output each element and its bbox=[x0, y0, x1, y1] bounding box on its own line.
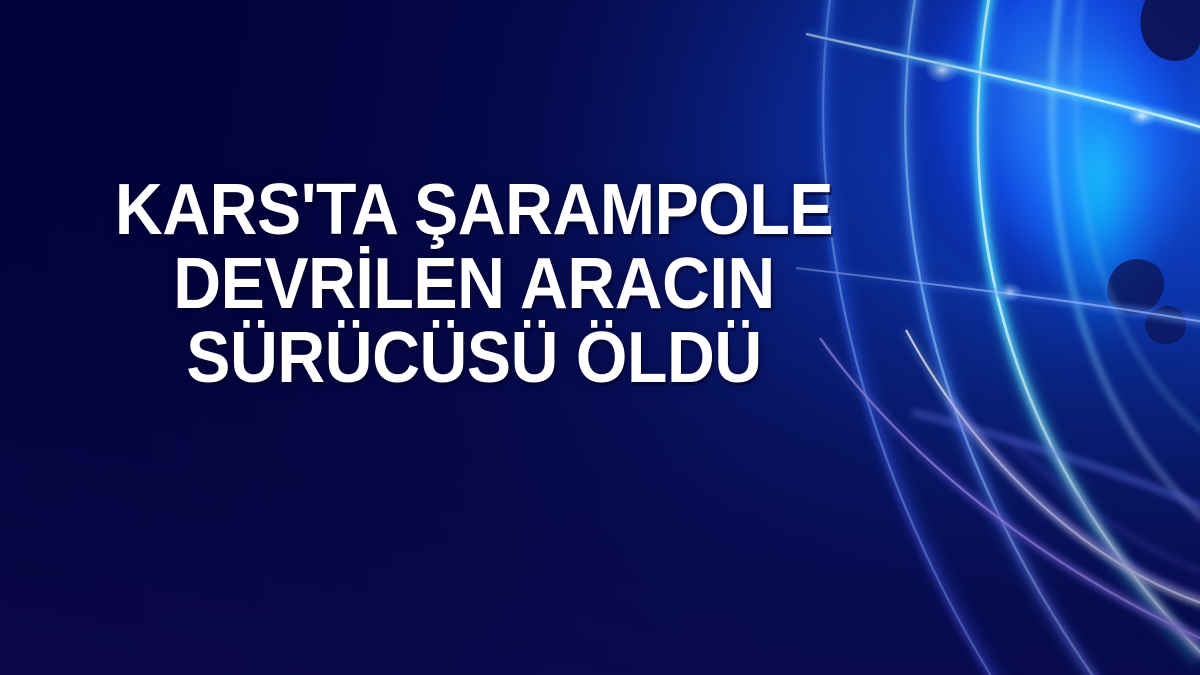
headline-line-2: DEVRİLEN ARACIN bbox=[38, 247, 910, 321]
headline-line-1: KARS'TA ŞARAMPOLE bbox=[38, 173, 910, 247]
news-headline-card: KARS'TA ŞARAMPOLE DEVRİLEN ARACIN SÜRÜCÜ… bbox=[0, 0, 1200, 675]
headline-line-3: SÜRÜCÜSÜ ÖLDÜ bbox=[38, 321, 910, 395]
page-title: KARS'TA ŞARAMPOLE DEVRİLEN ARACIN SÜRÜCÜ… bbox=[0, 173, 948, 395]
